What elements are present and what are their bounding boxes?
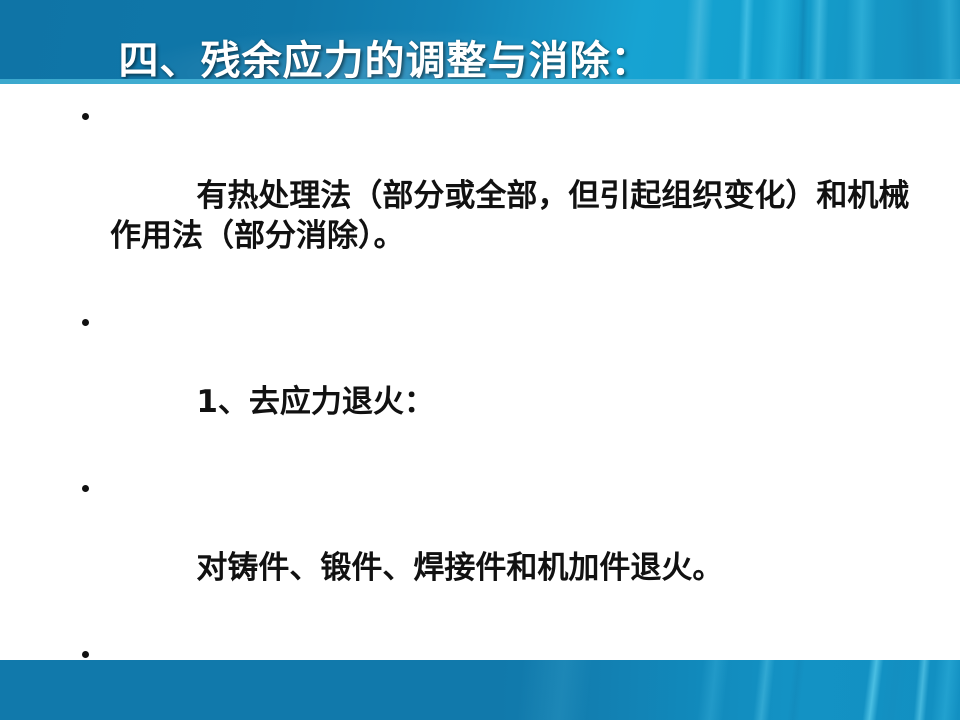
bullet-dot-icon [82,319,89,326]
bullet-dot-icon [82,113,89,120]
slide-content: 有热处理法（部分或全部，但引起组织变化）和机械作用法（部分消除）。 1、去应力退… [0,88,960,658]
slide-title: 四、残余应力的调整与消除： [0,33,960,84]
bullet-text: 有热处理法（部分或全部，但引起组织变化）和机械作用法（部分消除）。 [110,178,909,254]
list-item: 对铸件、锻件、焊接件和机加件退火。 [74,468,936,628]
footer-light-stripes [0,660,960,720]
list-item: 1、去应力退火： [74,302,936,462]
bullet-dot-icon [82,485,89,492]
bullet-text: 对铸件、锻件、焊接件和机加件退火。 [196,550,723,586]
bullet-list: 有热处理法（部分或全部，但引起组织变化）和机械作用法（部分消除）。 1、去应力退… [0,88,960,720]
slide: 四、残余应力的调整与消除： 有热处理法（部分或全部，但引起组织变化）和机械作用法… [0,0,960,720]
list-item: 有热处理法（部分或全部，但引起组织变化）和机械作用法（部分消除）。 [74,96,936,296]
slide-footer-band [0,660,960,720]
bullet-dot-icon [82,651,89,658]
header-underline-accent [0,79,960,84]
slide-header-band: 四、残余应力的调整与消除： [0,0,960,84]
bullet-text: 1、去应力退火： [196,384,435,420]
